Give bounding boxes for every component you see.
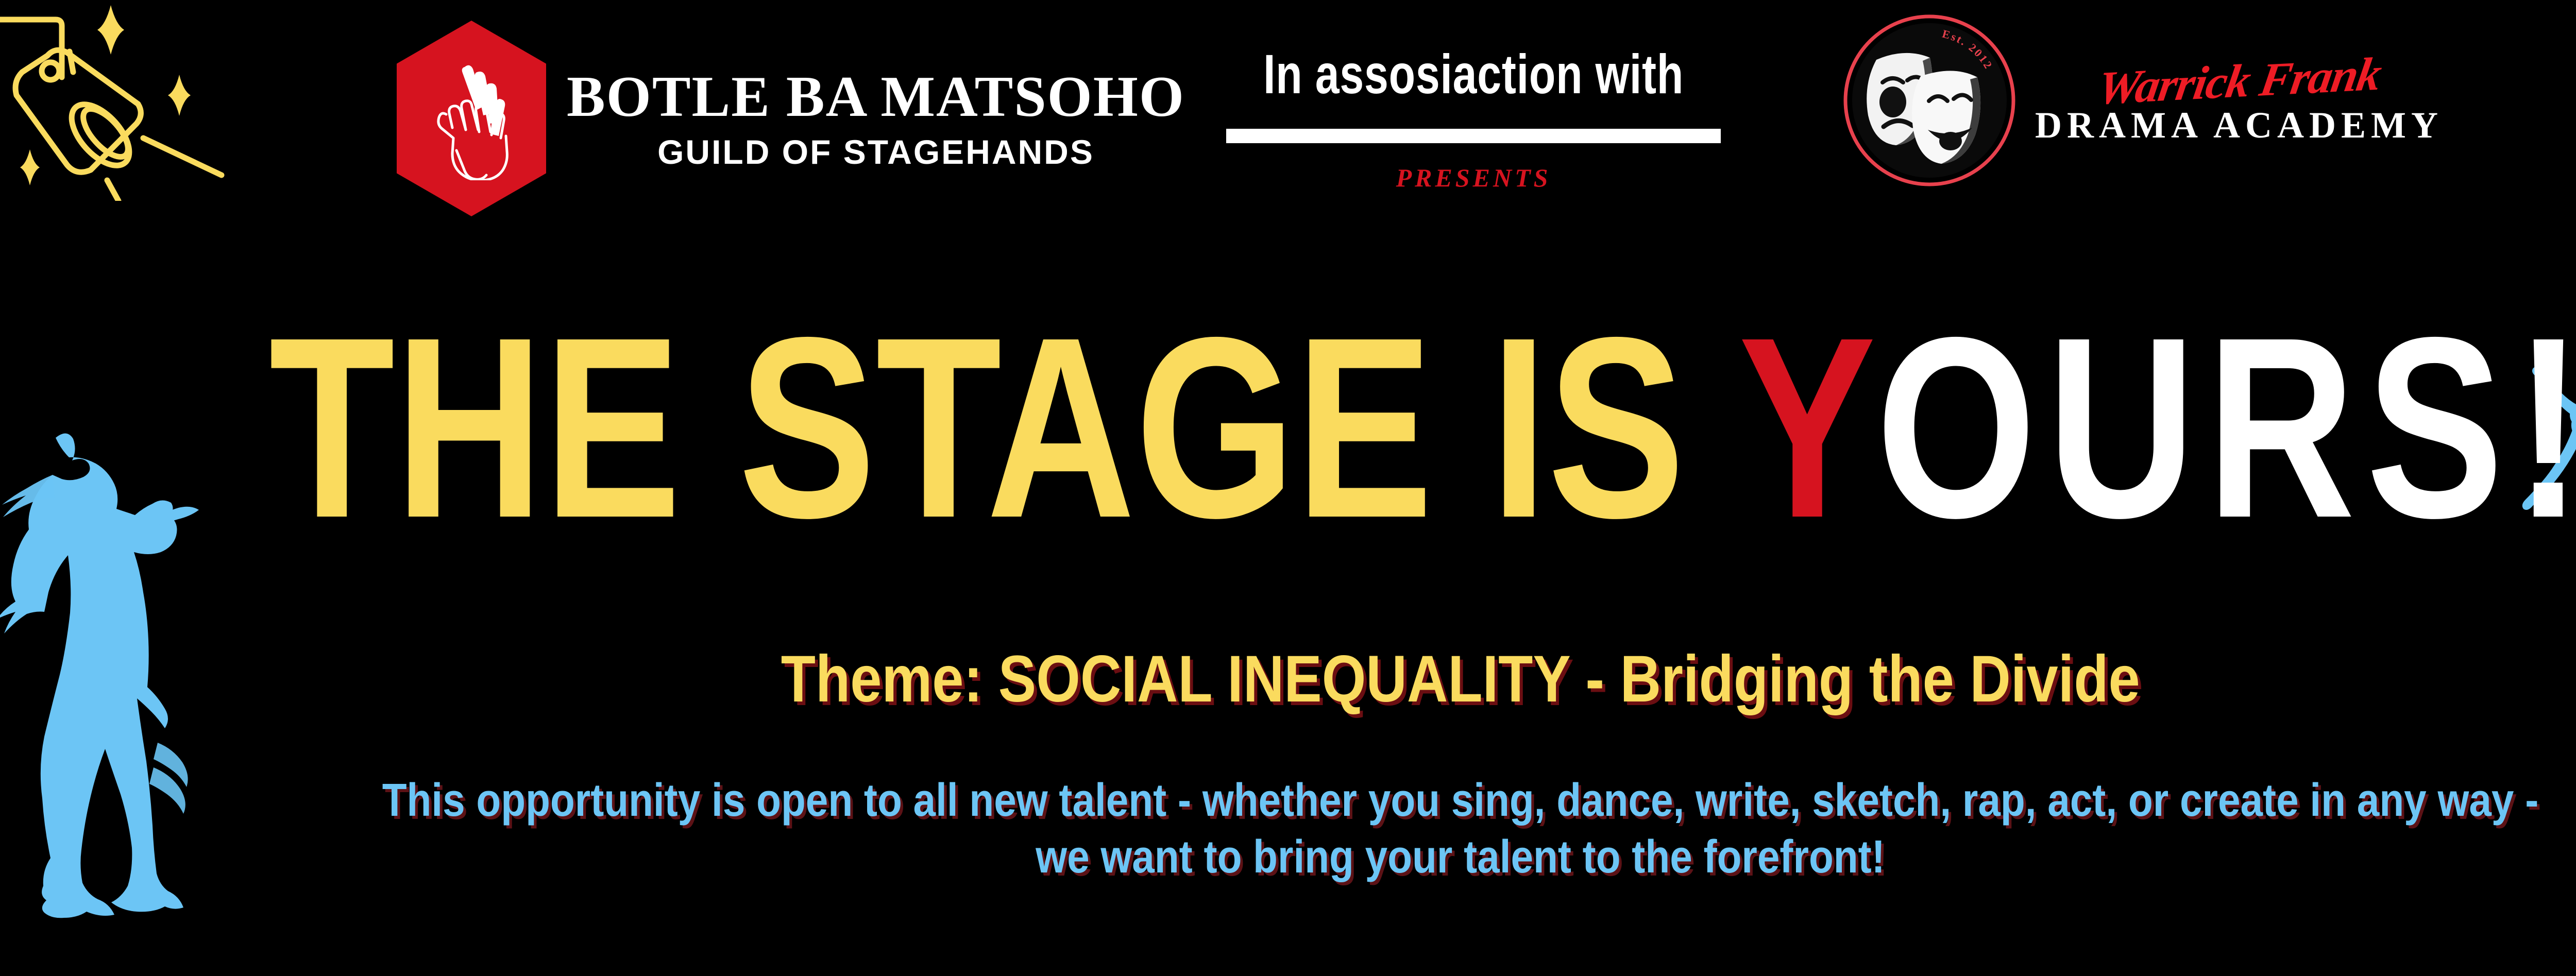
page-title: THE STAGE IS YOURS!! xyxy=(269,299,2576,556)
academy-wordmark: Warrick Frank DRAMA ACADEMY xyxy=(2035,57,2443,144)
body-line-1: This opportunity is open to all new tale… xyxy=(190,773,2576,829)
headline-part-yellow: THE STAGE IS xyxy=(269,283,1738,571)
association-text: In assosiaction with xyxy=(1263,46,1684,102)
theme-block: Theme: SOCIAL INEQUALITY - Bridging the … xyxy=(0,646,2576,712)
theatre-masks-circle-icon: Est. 2012 xyxy=(1839,10,2020,191)
association-divider xyxy=(1226,129,1721,143)
poster-header: BOTLE BA MATSOHO GUILD OF STAGEHANDS In … xyxy=(0,0,2576,258)
academy-script-name: Warrick Frank xyxy=(2094,50,2384,112)
guild-logo-block: BOTLE BA MATSOHO GUILD OF STAGEHANDS xyxy=(397,21,1185,216)
headline-block: THE STAGE IS YOURS!! xyxy=(0,288,2576,567)
association-block: In assosiaction with PRESENTS xyxy=(1180,46,1767,191)
guild-wordmark: BOTLE BA MATSOHO GUILD OF STAGEHANDS xyxy=(567,68,1185,169)
guild-subtitle: GUILD OF STAGEHANDS xyxy=(657,135,1094,169)
body-line-2: we want to bring your talent to the fore… xyxy=(190,829,2576,886)
guild-name: BOTLE BA MATSOHO xyxy=(567,68,1185,126)
hand-hexagon-icon xyxy=(397,21,546,216)
theme-line: Theme: SOCIAL INEQUALITY - Bridging the … xyxy=(781,646,2140,712)
presents-label: PRESENTS xyxy=(1396,165,1551,191)
headline-part-white: OURS xyxy=(1876,283,2514,571)
headline-bang-white: ! xyxy=(2514,283,2576,571)
body-copy-block: This opportunity is open to all new tale… xyxy=(0,773,2576,886)
academy-logo-block: Est. 2012 Warrick Frank DRAMA ACADEMY xyxy=(1839,10,2443,191)
headline-letter-y: Y xyxy=(1739,283,1876,571)
